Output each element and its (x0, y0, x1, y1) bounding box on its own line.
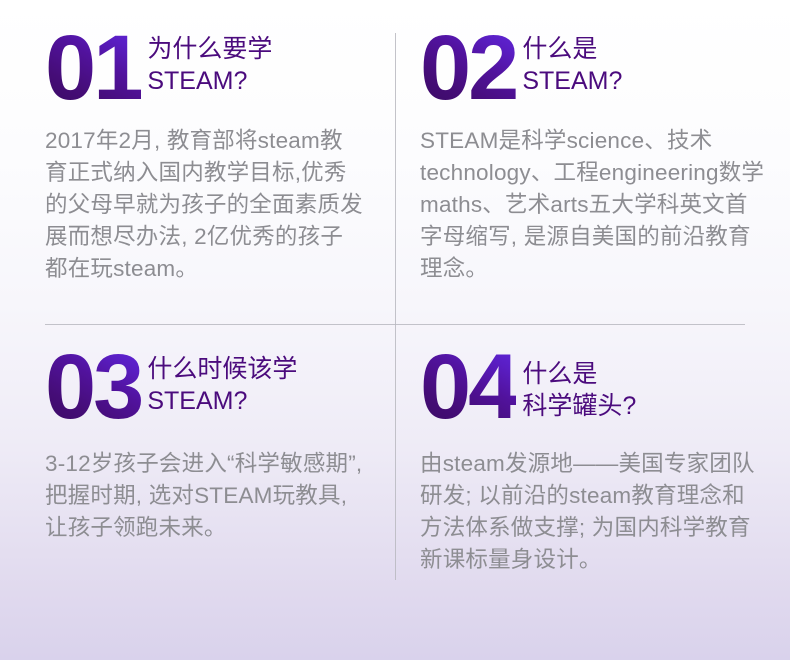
section-01-header: 01 为什么要学 STEAM? (45, 30, 365, 107)
section-01-number: 01 (45, 30, 141, 107)
section-03-title: 什么时候该学 STEAM? (141, 349, 365, 417)
section-04-header: 04 什么是 科学罐头? (420, 349, 765, 426)
section-02: 02 什么是 STEAM? STEAM是科学science、技术technolo… (395, 0, 790, 324)
section-01: 01 为什么要学 STEAM? 2017年2月, 教育部将steam教育正式纳入… (0, 0, 395, 324)
section-02-body: STEAM是科学science、技术technology、工程engineeri… (420, 125, 765, 285)
section-02-header: 02 什么是 STEAM? (420, 30, 765, 107)
section-03-number: 03 (45, 349, 141, 426)
section-04-body: 由steam发源地——美国专家团队研发; 以前沿的steam教育理念和方法体系做… (420, 448, 765, 576)
section-04-title: 什么是 科学罐头? (516, 349, 765, 422)
section-01-title: 为什么要学 STEAM? (141, 30, 365, 97)
section-03: 03 什么时候该学 STEAM? 3-12岁孩子会进入“科学敏感期”, 把握时期… (0, 324, 395, 660)
section-02-number: 02 (420, 30, 516, 107)
section-01-body: 2017年2月, 教育部将steam教育正式纳入国内教学目标,优秀的父母早就为孩… (45, 125, 365, 285)
section-03-body: 3-12岁孩子会进入“科学敏感期”, 把握时期, 选对STEAM玩教具, 让孩子… (45, 448, 365, 544)
section-04: 04 什么是 科学罐头? 由steam发源地——美国专家团队研发; 以前沿的st… (395, 324, 790, 660)
section-02-title: 什么是 STEAM? (516, 30, 765, 97)
steam-info-poster: 01 为什么要学 STEAM? 2017年2月, 教育部将steam教育正式纳入… (0, 0, 790, 660)
section-04-number: 04 (420, 349, 516, 426)
section-03-header: 03 什么时候该学 STEAM? (45, 349, 365, 426)
